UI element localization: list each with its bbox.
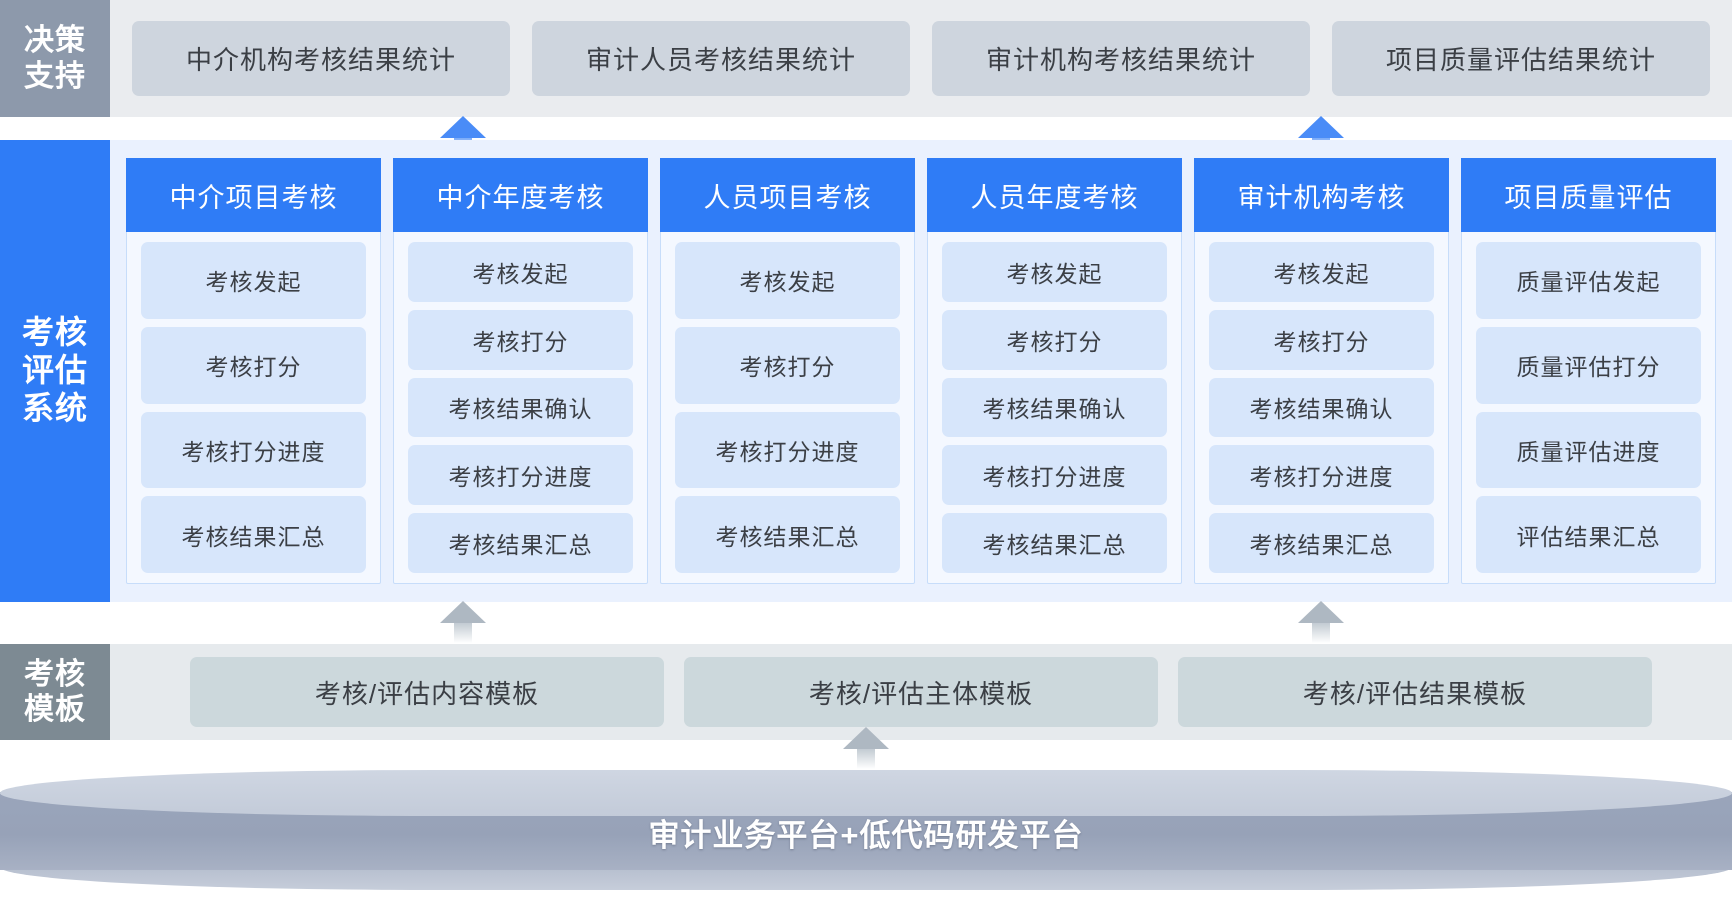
system-column-title[interactable]: 项目质量评估 — [1461, 158, 1716, 232]
arrow-head — [843, 727, 889, 749]
system-column-items: 考核发起 考核打分 考核打分进度 考核结果汇总 — [661, 232, 914, 583]
evaluation-system-label-line-2: 评估 — [22, 352, 88, 390]
arrow-up-platform-to-template — [843, 727, 889, 769]
assessment-template-cards: 考核/评估内容模板 考核/评估主体模板 考核/评估结果模板 — [110, 644, 1732, 740]
arrow-up-template-to-system-right — [1298, 601, 1344, 643]
arrow-shaft — [857, 747, 875, 769]
decision-support-cards: 中介机构考核结果统计 审计人员考核结果统计 审计机构考核结果统计 项目质量评估结… — [110, 0, 1732, 117]
system-column-audit-org: 审计机构考核 考核发起 考核打分 考核结果确认 考核打分进度 考核结果汇总 — [1194, 158, 1449, 584]
architecture-diagram: 决策 支持 中介机构考核结果统计 审计人员考核结果统计 审计机构考核结果统计 项… — [0, 0, 1732, 908]
template-card-result[interactable]: 考核/评估结果模板 — [1178, 657, 1652, 727]
system-column-title[interactable]: 中介项目考核 — [126, 158, 381, 232]
decision-card-audit-org-stats[interactable]: 审计机构考核结果统计 — [932, 21, 1310, 96]
arrow-up-template-to-system-left — [440, 601, 486, 643]
system-column-items: 考核发起 考核打分 考核结果确认 考核打分进度 考核结果汇总 — [1195, 232, 1448, 583]
system-item[interactable]: 考核打分进度 — [141, 412, 366, 489]
system-column-items: 考核发起 考核打分 考核结果确认 考核打分进度 考核结果汇总 — [928, 232, 1181, 583]
system-column-title[interactable]: 人员年度考核 — [927, 158, 1182, 232]
system-column-agency-annual: 中介年度考核 考核发起 考核打分 考核结果确认 考核打分进度 考核结果汇总 — [393, 158, 648, 584]
assessment-template-label: 考核 模板 — [0, 644, 110, 740]
system-item[interactable]: 质量评估进度 — [1476, 412, 1701, 489]
arrow-head — [1298, 601, 1344, 623]
system-item[interactable]: 考核打分进度 — [1209, 445, 1434, 505]
decision-support-label-line-1: 决策 — [24, 23, 86, 58]
decision-card-agency-stats[interactable]: 中介机构考核结果统计 — [132, 21, 510, 96]
system-item[interactable]: 考核结果汇总 — [1209, 513, 1434, 573]
evaluation-system-columns: 中介项目考核 考核发起 考核打分 考核打分进度 考核结果汇总 中介年度考核 考核… — [110, 140, 1732, 602]
system-column-items: 考核发起 考核打分 考核结果确认 考核打分进度 考核结果汇总 — [394, 232, 647, 583]
decision-support-label: 决策 支持 — [0, 0, 110, 117]
arrow-shaft — [1312, 621, 1330, 643]
system-item[interactable]: 考核打分 — [141, 327, 366, 404]
system-item[interactable]: 质量评估发起 — [1476, 242, 1701, 319]
system-item[interactable]: 考核结果汇总 — [141, 496, 366, 573]
decision-support-layer: 决策 支持 中介机构考核结果统计 审计人员考核结果统计 审计机构考核结果统计 项… — [0, 0, 1732, 117]
system-column-personnel-project: 人员项目考核 考核发起 考核打分 考核打分进度 考核结果汇总 — [660, 158, 915, 584]
evaluation-system-label-line-1: 考核 — [22, 314, 88, 352]
system-item[interactable]: 考核发起 — [1209, 242, 1434, 302]
system-column-personnel-annual: 人员年度考核 考核发起 考核打分 考核结果确认 考核打分进度 考核结果汇总 — [927, 158, 1182, 584]
system-item[interactable]: 考核结果确认 — [1209, 378, 1434, 438]
system-item[interactable]: 考核结果确认 — [942, 378, 1167, 438]
evaluation-system-label-line-3: 系统 — [22, 390, 88, 428]
system-column-items: 考核发起 考核打分 考核打分进度 考核结果汇总 — [127, 232, 380, 583]
system-item[interactable]: 考核发起 — [942, 242, 1167, 302]
platform-label: 审计业务平台+低代码研发平台 — [0, 796, 1732, 868]
system-item[interactable]: 考核结果汇总 — [408, 513, 633, 573]
decision-card-project-quality-stats[interactable]: 项目质量评估结果统计 — [1332, 21, 1710, 96]
system-item[interactable]: 考核发起 — [141, 242, 366, 319]
system-item[interactable]: 考核结果汇总 — [675, 496, 900, 573]
system-item[interactable]: 考核打分 — [942, 310, 1167, 370]
system-item[interactable]: 考核结果汇总 — [942, 513, 1167, 573]
system-item[interactable]: 考核发起 — [408, 242, 633, 302]
system-column-items: 质量评估发起 质量评估打分 质量评估进度 评估结果汇总 — [1462, 232, 1715, 583]
template-card-subject[interactable]: 考核/评估主体模板 — [684, 657, 1158, 727]
system-item[interactable]: 考核打分进度 — [942, 445, 1167, 505]
evaluation-system-layer: 考核 评估 系统 中介项目考核 考核发起 考核打分 考核打分进度 考核结果汇总 … — [0, 140, 1732, 602]
decision-support-label-line-2: 支持 — [24, 59, 86, 94]
template-card-content[interactable]: 考核/评估内容模板 — [190, 657, 664, 727]
evaluation-system-label: 考核 评估 系统 — [0, 140, 110, 602]
system-column-title[interactable]: 审计机构考核 — [1194, 158, 1449, 232]
system-item[interactable]: 考核打分 — [408, 310, 633, 370]
system-column-project-quality: 项目质量评估 质量评估发起 质量评估打分 质量评估进度 评估结果汇总 — [1461, 158, 1716, 584]
system-item[interactable]: 考核打分 — [1209, 310, 1434, 370]
assessment-template-label-line-1: 考核 — [24, 657, 86, 692]
system-item[interactable]: 考核打分进度 — [675, 412, 900, 489]
arrow-head — [440, 601, 486, 623]
system-column-agency-project: 中介项目考核 考核发起 考核打分 考核打分进度 考核结果汇总 — [126, 158, 381, 584]
system-column-title[interactable]: 中介年度考核 — [393, 158, 648, 232]
arrow-shaft — [454, 621, 472, 643]
assessment-template-label-line-2: 模板 — [24, 692, 86, 727]
arrow-head — [1298, 116, 1344, 138]
platform-layer: 审计业务平台+低代码研发平台 — [0, 770, 1732, 908]
system-item[interactable]: 评估结果汇总 — [1476, 496, 1701, 573]
system-column-title[interactable]: 人员项目考核 — [660, 158, 915, 232]
decision-card-auditor-stats[interactable]: 审计人员考核结果统计 — [532, 21, 910, 96]
arrow-head — [440, 116, 486, 138]
system-item[interactable]: 考核发起 — [675, 242, 900, 319]
system-item[interactable]: 质量评估打分 — [1476, 327, 1701, 404]
system-item[interactable]: 考核打分 — [675, 327, 900, 404]
assessment-template-layer: 考核 模板 考核/评估内容模板 考核/评估主体模板 考核/评估结果模板 — [0, 644, 1732, 740]
system-item[interactable]: 考核结果确认 — [408, 378, 633, 438]
system-item[interactable]: 考核打分进度 — [408, 445, 633, 505]
